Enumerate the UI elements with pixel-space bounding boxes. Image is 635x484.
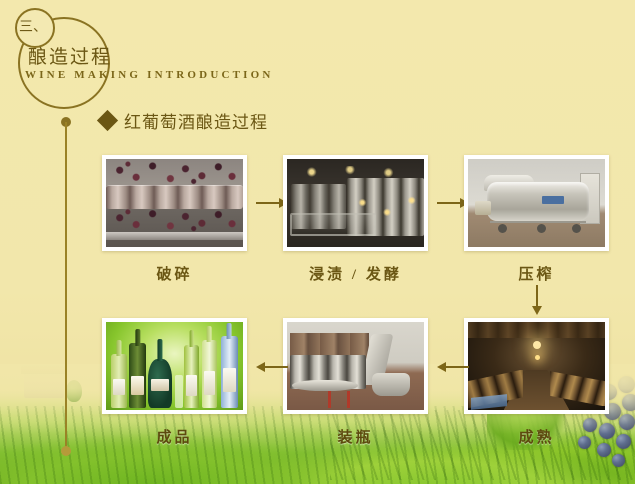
process-step-label: 浸渍 / 发酵 xyxy=(283,263,428,284)
grape-crushing-photo[interactable] xyxy=(102,155,247,251)
wine-press-photo[interactable] xyxy=(464,155,609,251)
section-heading: 红葡萄酒酿造过程 xyxy=(100,108,268,133)
fermentation-tanks-photo[interactable] xyxy=(283,155,428,251)
process-step-label: 成熟 xyxy=(464,426,609,447)
process-step-aging[interactable]: 成熟 xyxy=(464,318,609,447)
arrow-down-icon xyxy=(530,285,544,315)
process-step-label: 成品 xyxy=(102,426,247,447)
arrow-left-icon xyxy=(256,360,288,374)
process-step-pressing[interactable]: 压榨 xyxy=(464,155,609,284)
finished-bottles-photo[interactable] xyxy=(102,318,247,414)
diamond-bullet-icon xyxy=(97,110,118,131)
section-number: 三、 xyxy=(15,8,51,44)
process-step-label: 装瓶 xyxy=(283,426,428,447)
vertical-timeline xyxy=(65,122,67,452)
process-step-maceration[interactable]: 浸渍 / 发酵 xyxy=(283,155,428,284)
bottling-line-photo[interactable] xyxy=(283,318,428,414)
process-step-label: 压榨 xyxy=(464,263,609,284)
page-title: 酿造过程 xyxy=(28,42,112,69)
section-heading-label: 红葡萄酒酿造过程 xyxy=(124,108,268,133)
page-subtitle-en: WINE MAKING INTRODUCTION xyxy=(25,69,274,81)
process-step-crushing[interactable]: 破碎 xyxy=(102,155,247,284)
process-step-finished[interactable]: 成品 xyxy=(102,318,247,447)
barrel-cellar-photo[interactable] xyxy=(464,318,609,414)
process-step-bottling[interactable]: 装瓶 xyxy=(283,318,428,447)
slide-canvas: 三、 酿造过程 WINE MAKING INTRODUCTION 红葡萄酒酿造过… xyxy=(0,0,635,484)
process-step-label: 破碎 xyxy=(102,263,247,284)
timeline-dot-bottom xyxy=(61,446,71,456)
arrow-left-icon xyxy=(437,360,469,374)
